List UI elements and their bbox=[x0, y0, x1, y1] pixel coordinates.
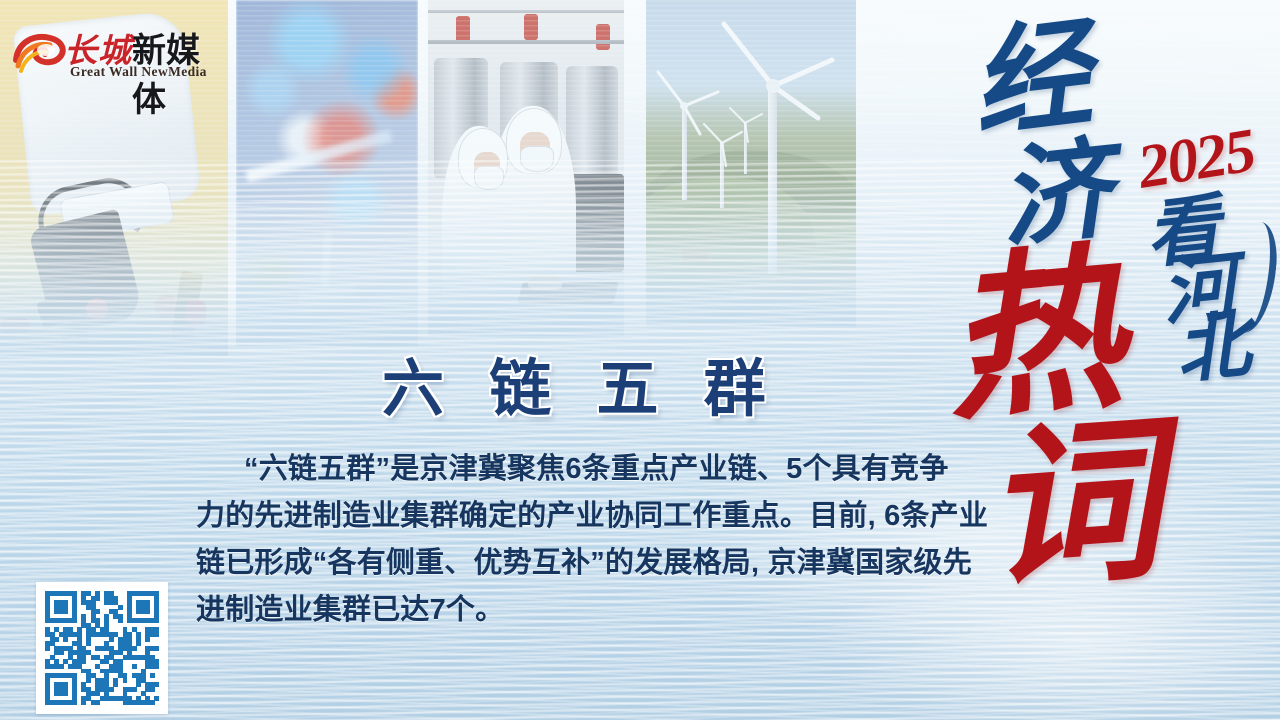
optics-lab-photo bbox=[236, 0, 418, 346]
brand-logo[interactable]: 长城 新媒体 Great Wall NewMedia bbox=[12, 26, 228, 84]
body-line: “六链五群”是京津冀聚焦6条重点产业链、5个具有竞争 bbox=[196, 446, 968, 493]
calligraphy-char-ci: 词 bbox=[978, 414, 1166, 602]
photo-bottom-fade bbox=[236, 187, 418, 346]
poster-canvas: 长城 新媒体 Great Wall NewMedia 六 链 五 群 “六链五群… bbox=[0, 0, 1280, 720]
logo-name-en: Great Wall NewMedia bbox=[70, 64, 207, 80]
page-title: 六 链 五 群 bbox=[382, 338, 780, 428]
qr-code-modules bbox=[45, 591, 159, 705]
calligraphy-brush-tail bbox=[1236, 221, 1280, 336]
qr-code[interactable] bbox=[36, 582, 168, 714]
campaign-year: 2025 bbox=[1134, 119, 1258, 198]
body-line: 进制造业集群已达7个。 bbox=[196, 587, 968, 634]
swirl-flame-icon bbox=[12, 30, 68, 74]
calligraphy-char-jing: 经 bbox=[965, 15, 1097, 147]
campaign-calligraphy: 经 济 2025 看 河 北 热 词 bbox=[950, 0, 1280, 660]
wind-farm-photo bbox=[646, 0, 856, 326]
cleanroom-biotech-photo bbox=[428, 0, 624, 336]
calligraphy-char-re: 热 bbox=[939, 243, 1130, 434]
photo-bottom-fade bbox=[428, 181, 624, 336]
body-paragraph: “六链五群”是京津冀聚焦6条重点产业链、5个具有竞争 力的先进制造业集群确定的产… bbox=[196, 446, 968, 634]
photo-bottom-fade bbox=[646, 176, 856, 326]
body-line: 链已形成“各有侧重、优势互补”的发展格局, 京津冀国家级先 bbox=[196, 540, 968, 587]
photo-bottom-fade bbox=[0, 192, 228, 356]
body-line: 力的先进制造业集群确定的产业协同工作重点。目前, 6条产业 bbox=[196, 493, 968, 540]
